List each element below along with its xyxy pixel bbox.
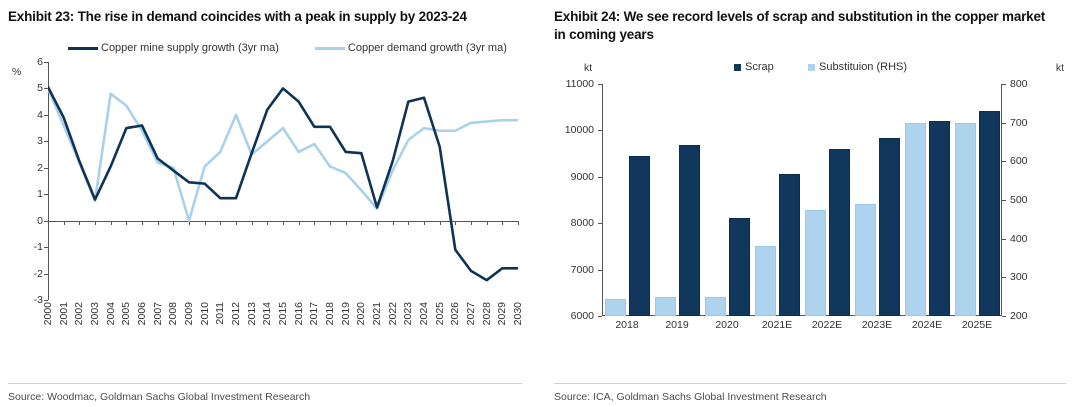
exhibit-24-y-unit-right: kt — [1056, 62, 1064, 74]
bar-chart-left-tick — [598, 84, 602, 85]
bar-substitution — [605, 299, 626, 316]
line-chart-y-tick-label: 4 — [37, 109, 43, 121]
line-chart-y-tick-label: 6 — [37, 56, 43, 68]
bar-chart-left-tick-label: 6000 — [571, 310, 594, 322]
legend-swatch-demand-icon — [315, 47, 345, 50]
line-chart-y-tick-label: 2 — [37, 162, 43, 174]
line-chart-y-tick-label: 3 — [37, 135, 43, 147]
bar-chart-left-axis — [602, 84, 603, 316]
exhibit-23-source: Source: Woodmac, Goldman Sachs Global In… — [8, 391, 522, 403]
exhibit-24-source: Source: ICA, Goldman Sachs Global Invest… — [554, 391, 1066, 403]
line-chart-x-axis-label: 2006 — [137, 302, 148, 325]
line-chart-y-tick-label: 1 — [37, 188, 43, 200]
bar-chart-right-tick — [1002, 161, 1006, 162]
bar-chart-right-tick — [1002, 200, 1006, 201]
line-chart-x-axis-label: 2027 — [466, 302, 477, 325]
line-chart-x-axis-label: 2001 — [59, 302, 70, 325]
bar-chart-category-label: 2018 — [615, 319, 638, 331]
panel-exhibit-24: Exhibit 24: We see record levels of scra… — [540, 0, 1080, 407]
bar-chart-right-tick — [1002, 239, 1006, 240]
bar-chart-right-tick — [1002, 277, 1006, 278]
exhibit-24-legend: kt kt Scrap Substituion (RHS) — [554, 60, 1066, 78]
legend-swatch-substitution-icon — [808, 64, 815, 71]
line-chart-y-tick-label: 0 — [37, 215, 43, 227]
bar-plot-area: 6000700080009000100001100020030040050060… — [602, 84, 1002, 316]
bar-substitution — [905, 123, 926, 316]
line-chart-y-tick-label: -1 — [34, 241, 43, 253]
line-chart-x-axis-label: 2021 — [372, 302, 383, 325]
bar-chart-left-tick-label: 7000 — [571, 264, 594, 276]
exhibit-24-title: Exhibit 24: We see record levels of scra… — [554, 8, 1054, 44]
bar-chart-right-tick — [1002, 84, 1006, 85]
exhibit-24-y-unit-left: kt — [584, 62, 592, 74]
line-chart-x-axis-label: 2019 — [341, 302, 352, 325]
bar-chart-category-label: 2022E — [812, 319, 842, 331]
line-chart-x-axis-label: 2002 — [74, 302, 85, 325]
bar-substitution — [705, 297, 726, 316]
line-chart-x-axis-label: 2025 — [435, 302, 446, 325]
line-chart-x-axis-label: 2003 — [90, 302, 101, 325]
bar-chart-right-tick — [1002, 123, 1006, 124]
legend-label-substitution: Substituion (RHS) — [819, 61, 907, 73]
line-chart-y-tick-label: 5 — [37, 82, 43, 94]
bar-scrap — [729, 218, 750, 316]
line-chart-x-axis-label: 2015 — [278, 302, 289, 325]
exhibit-24-chart: 6000700080009000100001100020030040050060… — [554, 84, 1066, 336]
exhibit-23-title: Exhibit 23: The rise in demand coincides… — [8, 8, 513, 26]
line-chart-x-axis-label: 2016 — [294, 302, 305, 325]
line-chart-x-axis-label: 2030 — [513, 302, 524, 325]
line-chart-x-axis-label: 2009 — [184, 302, 195, 325]
bar-substitution — [755, 246, 776, 316]
line-chart-x-axis-label: 2000 — [43, 302, 54, 325]
bar-chart-left-tick-label: 8000 — [571, 217, 594, 229]
exhibit-23-source-wrap: Source: Woodmac, Goldman Sachs Global In… — [0, 383, 540, 403]
line-chart-x-axis-label: 2022 — [388, 302, 399, 325]
bar-chart-category-label: 2024E — [912, 319, 942, 331]
line-chart-x-axis-label: 2020 — [356, 302, 367, 325]
bar-substitution — [855, 204, 876, 316]
bar-chart-right-tick-label: 500 — [1010, 194, 1028, 206]
line-chart-x-axis-label: 2013 — [247, 302, 258, 325]
bar-chart-left-tick-label: 9000 — [571, 171, 594, 183]
legend-item-scrap: Scrap — [734, 61, 774, 73]
line-chart-x-axis-label: 2012 — [231, 302, 242, 325]
line-chart-x-axis-label: 2007 — [153, 302, 164, 325]
bar-scrap — [979, 111, 1000, 316]
bar-scrap — [929, 121, 950, 316]
legend-swatch-mine-supply-icon — [68, 47, 98, 50]
bar-scrap — [879, 138, 900, 316]
line-chart-x-tick — [518, 221, 519, 225]
source-divider — [8, 383, 522, 384]
line-x-axis-labels: 2000200120022003200420052006200720082009… — [48, 300, 522, 352]
exhibit-24-source-wrap: Source: ICA, Goldman Sachs Global Invest… — [540, 383, 1080, 403]
bar-chart-right-tick-label: 400 — [1010, 233, 1028, 245]
bar-chart-right-tick-label: 200 — [1010, 310, 1028, 322]
legend-item-mine-supply: Copper mine supply growth (3yr ma) — [68, 42, 279, 54]
bar-chart-right-tick-label: 700 — [1010, 117, 1028, 129]
bar-chart-left-tick — [598, 130, 602, 131]
bar-substitution — [655, 297, 676, 316]
legend-label-mine-supply: Copper mine supply growth (3yr ma) — [101, 42, 279, 54]
bar-chart-category-label: 2023E — [862, 319, 892, 331]
panel-exhibit-23: Exhibit 23: The rise in demand coincides… — [0, 0, 540, 407]
legend-item-substitution: Substituion (RHS) — [808, 61, 907, 73]
bar-chart-right-tick-label: 800 — [1010, 78, 1028, 90]
line-chart-x-axis-label: 2004 — [106, 302, 117, 325]
source-divider — [554, 383, 1066, 384]
line-chart-x-axis-label: 2026 — [450, 302, 461, 325]
bar-substitution — [955, 123, 976, 316]
bar-chart-category-label: 2025E — [962, 319, 992, 331]
line-chart-x-axis-label: 2017 — [309, 302, 320, 325]
bar-chart-right-tick — [1002, 316, 1006, 317]
bar-chart-left-tick-label: 11000 — [566, 78, 594, 90]
legend-item-demand: Copper demand growth (3yr ma) — [315, 42, 507, 54]
legend-label-demand: Copper demand growth (3yr ma) — [348, 42, 507, 54]
line-chart-x-axis-label: 2018 — [325, 302, 336, 325]
line-chart-x-axis-label: 2005 — [121, 302, 132, 325]
bar-scrap — [829, 149, 850, 316]
bar-scrap — [679, 145, 700, 316]
line-chart-x-axis-label: 2029 — [497, 302, 508, 325]
bar-chart-right-tick-label: 300 — [1010, 271, 1028, 283]
line-chart-y-tick-label: -2 — [34, 268, 43, 280]
bar-x-axis-labels: 2018201920202021E2022E2023E2024E2025E — [602, 316, 1002, 336]
bar-scrap — [629, 156, 650, 316]
exhibit-23-chart: -3-2-10123456 20002001200220032004200520… — [8, 62, 522, 352]
line-chart-series-svg — [48, 62, 518, 300]
exhibit-23-legend: % Copper mine supply growth (3yr ma) Cop… — [36, 40, 522, 56]
line-chart-x-axis-label: 2024 — [419, 302, 430, 325]
line-chart-x-axis-label: 2010 — [200, 302, 211, 325]
bar-chart-category-label: 2021E — [762, 319, 792, 331]
bar-chart-right-tick-label: 600 — [1010, 155, 1028, 167]
bar-chart-left-tick — [598, 223, 602, 224]
line-series-mine-supply — [48, 87, 518, 280]
bar-substitution — [805, 210, 826, 316]
line-chart-x-axis-label: 2014 — [262, 302, 273, 325]
line-chart-x-axis-label: 2008 — [168, 302, 179, 325]
line-chart-x-axis-label: 2011 — [215, 302, 226, 325]
bar-chart-category-label: 2019 — [665, 319, 688, 331]
exhibit-page: Exhibit 23: The rise in demand coincides… — [0, 0, 1080, 407]
line-plot-area: -3-2-10123456 — [48, 62, 518, 300]
bar-chart-category-label: 2020 — [715, 319, 738, 331]
bar-chart-left-tick — [598, 270, 602, 271]
bar-scrap — [779, 174, 800, 316]
line-chart-x-axis-label: 2028 — [482, 302, 493, 325]
bar-chart-left-tick-label: 10000 — [565, 124, 594, 136]
legend-swatch-scrap-icon — [734, 64, 741, 71]
legend-label-scrap: Scrap — [745, 61, 774, 73]
line-chart-x-axis-label: 2023 — [403, 302, 414, 325]
bar-chart-left-tick — [598, 177, 602, 178]
